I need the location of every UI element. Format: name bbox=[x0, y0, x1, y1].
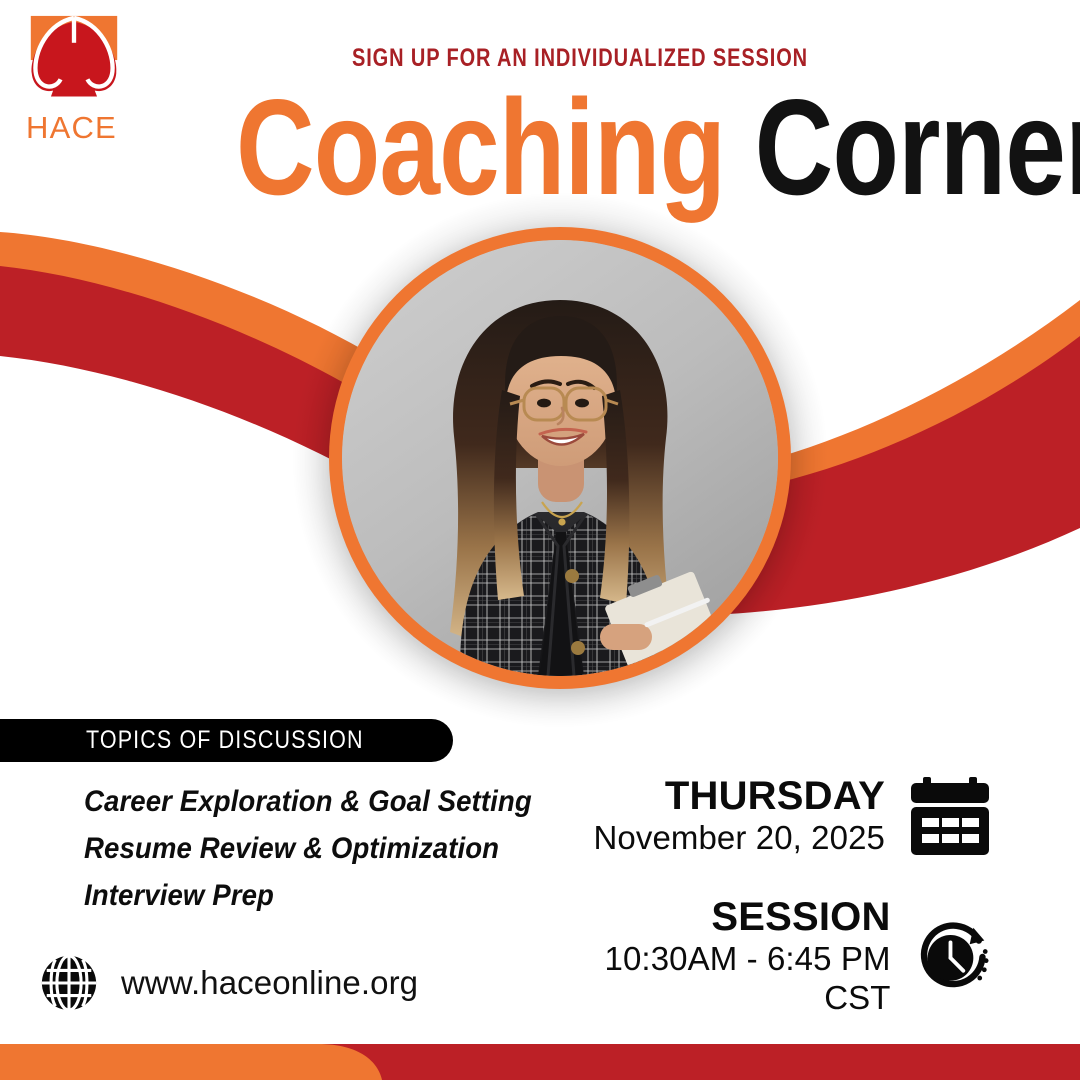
hace-arch-logo-icon bbox=[26, 14, 122, 110]
session-text: SESSION 10:30AM - 6:45 PM CST bbox=[560, 896, 891, 1018]
session-heading: SESSION bbox=[560, 896, 891, 938]
poster-canvas: HACE SIGN UP FOR AN INDIVIDUALIZED SESSI… bbox=[0, 0, 1080, 1080]
eyebrow-text: SIGN UP FOR AN INDIVIDUALIZED SESSION bbox=[236, 44, 924, 73]
list-item: Resume Review & Optimization bbox=[84, 825, 562, 872]
title-word-coaching: Coaching bbox=[236, 71, 725, 223]
globe-icon bbox=[38, 952, 100, 1014]
website-row[interactable]: www.haceonline.org bbox=[38, 952, 418, 1014]
topics-badge: TOPICS OF DISCUSSION bbox=[0, 719, 453, 762]
list-item: Career Exploration & Goal Setting bbox=[84, 778, 562, 825]
calendar-icon bbox=[907, 777, 993, 857]
page-title: Coaching Corner bbox=[236, 79, 924, 215]
website-url: www.haceonline.org bbox=[121, 964, 418, 1002]
date-heading: THURSDAY bbox=[593, 775, 885, 817]
portrait-illustration bbox=[342, 240, 778, 676]
date-text: THURSDAY November 20, 2025 bbox=[593, 775, 885, 858]
bottom-bar bbox=[0, 1044, 1080, 1080]
header: SIGN UP FOR AN INDIVIDUALIZED SESSION Co… bbox=[150, 44, 1010, 215]
session-block: SESSION 10:30AM - 6:45 PM CST bbox=[560, 896, 993, 1018]
clock-icon bbox=[913, 913, 993, 1001]
logo-wordmark: HACE bbox=[26, 112, 126, 143]
bottom-bar-left bbox=[0, 1044, 382, 1080]
brand-logo: HACE bbox=[26, 14, 146, 146]
topics-badge-label: TOPICS OF DISCUSSION bbox=[86, 726, 364, 755]
session-subtext: 10:30AM - 6:45 PM CST bbox=[560, 940, 891, 1018]
date-block: THURSDAY November 20, 2025 bbox=[575, 775, 993, 858]
topics-list: Career Exploration & Goal Setting Resume… bbox=[84, 778, 604, 919]
portrait-photo bbox=[342, 240, 778, 676]
portrait-ring bbox=[329, 227, 791, 689]
title-word-corner: Corner bbox=[755, 71, 1080, 223]
list-item: Interview Prep bbox=[84, 872, 562, 919]
date-subtext: November 20, 2025 bbox=[593, 819, 885, 858]
